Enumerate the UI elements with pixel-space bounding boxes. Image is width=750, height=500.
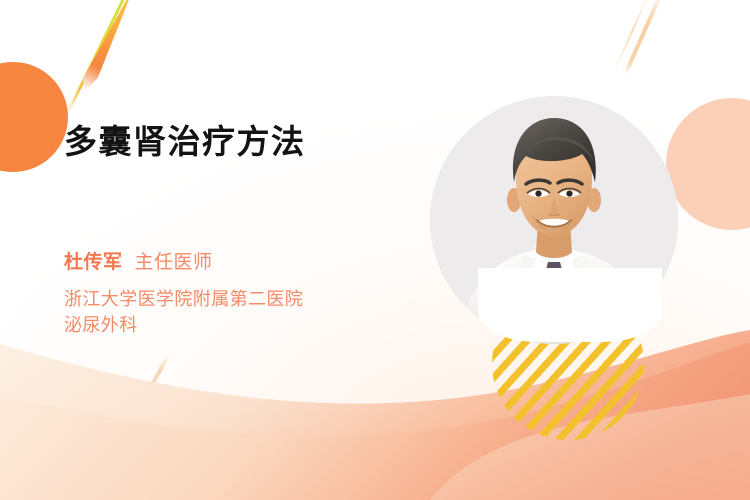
doctor-rank: 主任医师 xyxy=(135,252,213,273)
doctor-affiliation: 浙江大学医学院附属第二医院 泌尿外科 xyxy=(64,286,303,338)
doctor-hospital: 浙江大学医学院附属第二医院 xyxy=(64,286,303,312)
doctor-identity-line: 杜传军主任医师 xyxy=(64,247,213,274)
orange-diagonal-streak-icon xyxy=(79,0,142,93)
doctor-department: 泌尿外科 xyxy=(64,312,303,338)
page-title: 多囊肾治疗方法 xyxy=(64,120,306,164)
doctor-name: 杜传军 xyxy=(64,252,123,273)
striped-circle-mask xyxy=(478,268,662,342)
doctor-video-cover-card: 2 xyxy=(0,0,750,500)
